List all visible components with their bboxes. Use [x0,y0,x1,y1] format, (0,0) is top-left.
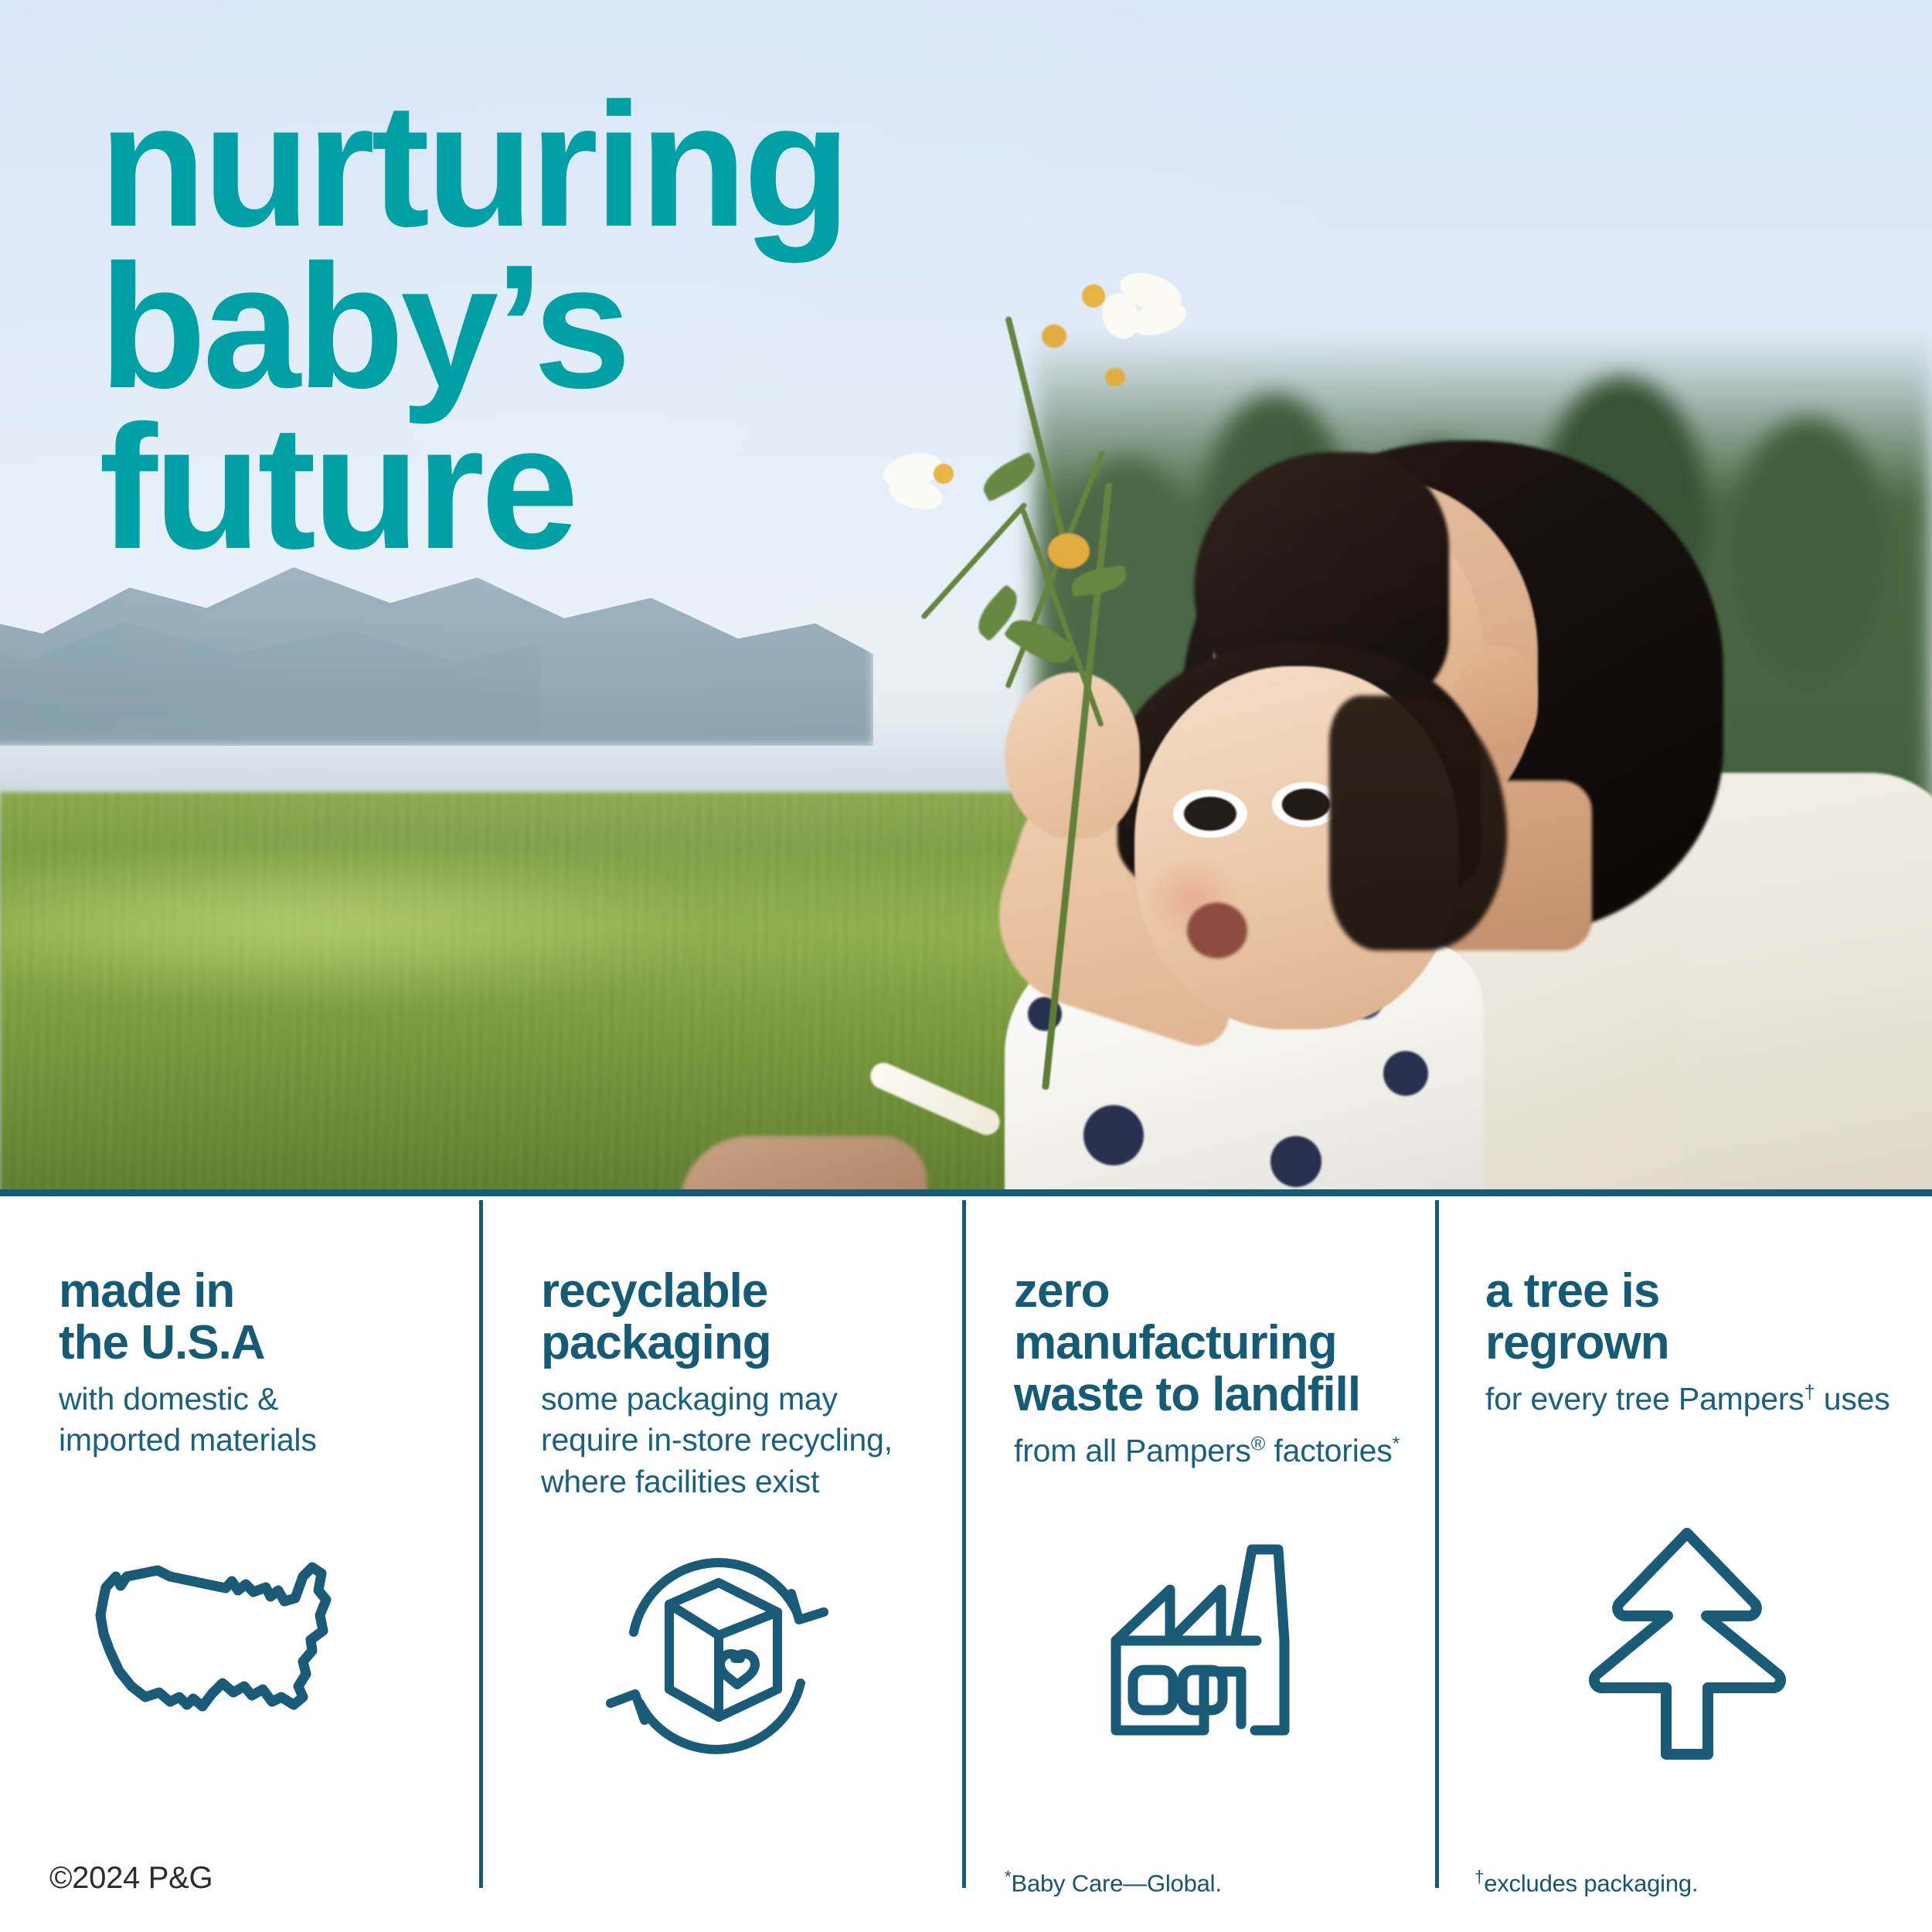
panel-tree-regrown: a tree is regrown for every tree Pampers… [1485,1266,1918,1420]
headline-line-1: nurturing [99,85,847,247]
horizontal-divider [0,1189,1932,1196]
headline-line-2: baby’s [99,247,847,408]
footnote-mark: * [1393,1433,1400,1454]
panel-heading-line: recyclable [541,1266,951,1318]
registered-mark: ® [1251,1433,1266,1454]
panel-body-suffix: uses [1815,1381,1890,1417]
panel-body: from all Pampers® factories* [1014,1430,1447,1471]
copyright-footnote: ©2024 P&G [49,1861,213,1896]
factory-icon [1105,1542,1337,1758]
panel-heading-line: zero [1014,1266,1447,1318]
dagger-mark: † [1804,1381,1815,1403]
panel-body-prefix: for every tree Pampers [1485,1381,1804,1417]
dagger-footnote: †excludes packaging. [1475,1867,1698,1897]
usa-map-icon [71,1553,334,1747]
panel-body-line: with domestic & [59,1379,461,1420]
hero-photo: nurturing baby’s future [0,0,1932,1194]
panel-body-suffix: factories [1265,1433,1392,1468]
dagger-footnote-text: excludes packaging. [1484,1869,1698,1896]
panel-body-line: some packaging may [541,1379,951,1420]
panel-made-in-usa: made in the U.S.A with domestic & import… [59,1266,461,1461]
panel-heading-line: a tree is [1485,1266,1918,1318]
panel-body-line: require in-store recycling, [541,1420,951,1461]
panel-heading-line: made in [59,1266,461,1318]
panel-heading: a tree is regrown [1485,1266,1918,1369]
panel-heading: recyclable packaging [541,1266,951,1369]
panel-body-line: imported materials [59,1420,461,1461]
panel-body: with domestic & imported materials [59,1379,461,1461]
panel-recyclable-packaging: recyclable packaging some packaging may … [541,1266,951,1502]
panel-heading-line: manufacturing [1014,1318,1447,1369]
vertical-divider-2 [962,1200,966,1888]
vertical-divider-1 [479,1200,483,1888]
panel-heading: made in the U.S.A [59,1266,461,1369]
asterisk-footnote-text: Baby Care—Global. [1011,1869,1221,1896]
panel-body-line: where facilities exist [541,1461,951,1502]
panel-body-prefix: from all Pampers [1014,1433,1251,1468]
panel-zero-waste: zero manufacturing waste to landfill fro… [1014,1266,1447,1471]
poster-root: nurturing baby’s future made in the U.S.… [0,0,1932,1932]
dagger-mark: † [1475,1867,1484,1886]
headline-line-3: future [99,407,847,569]
asterisk-footnote: *Baby Care—Global. [1005,1867,1222,1897]
panel-heading-line: waste to landfill [1014,1369,1447,1421]
panel-heading-line: the U.S.A [59,1318,461,1369]
panel-heading-line: regrown [1485,1318,1918,1369]
panel-heading: zero manufacturing waste to landfill [1014,1266,1447,1421]
panel-heading-line: packaging [541,1318,951,1369]
page-title: nurturing baby’s future [99,85,847,569]
pine-tree-icon [1575,1522,1799,1770]
panel-body: for every tree Pampers† uses [1485,1379,1918,1420]
panel-body: some packaging may require in-store recy… [541,1379,951,1502]
recycle-box-icon [601,1546,833,1770]
